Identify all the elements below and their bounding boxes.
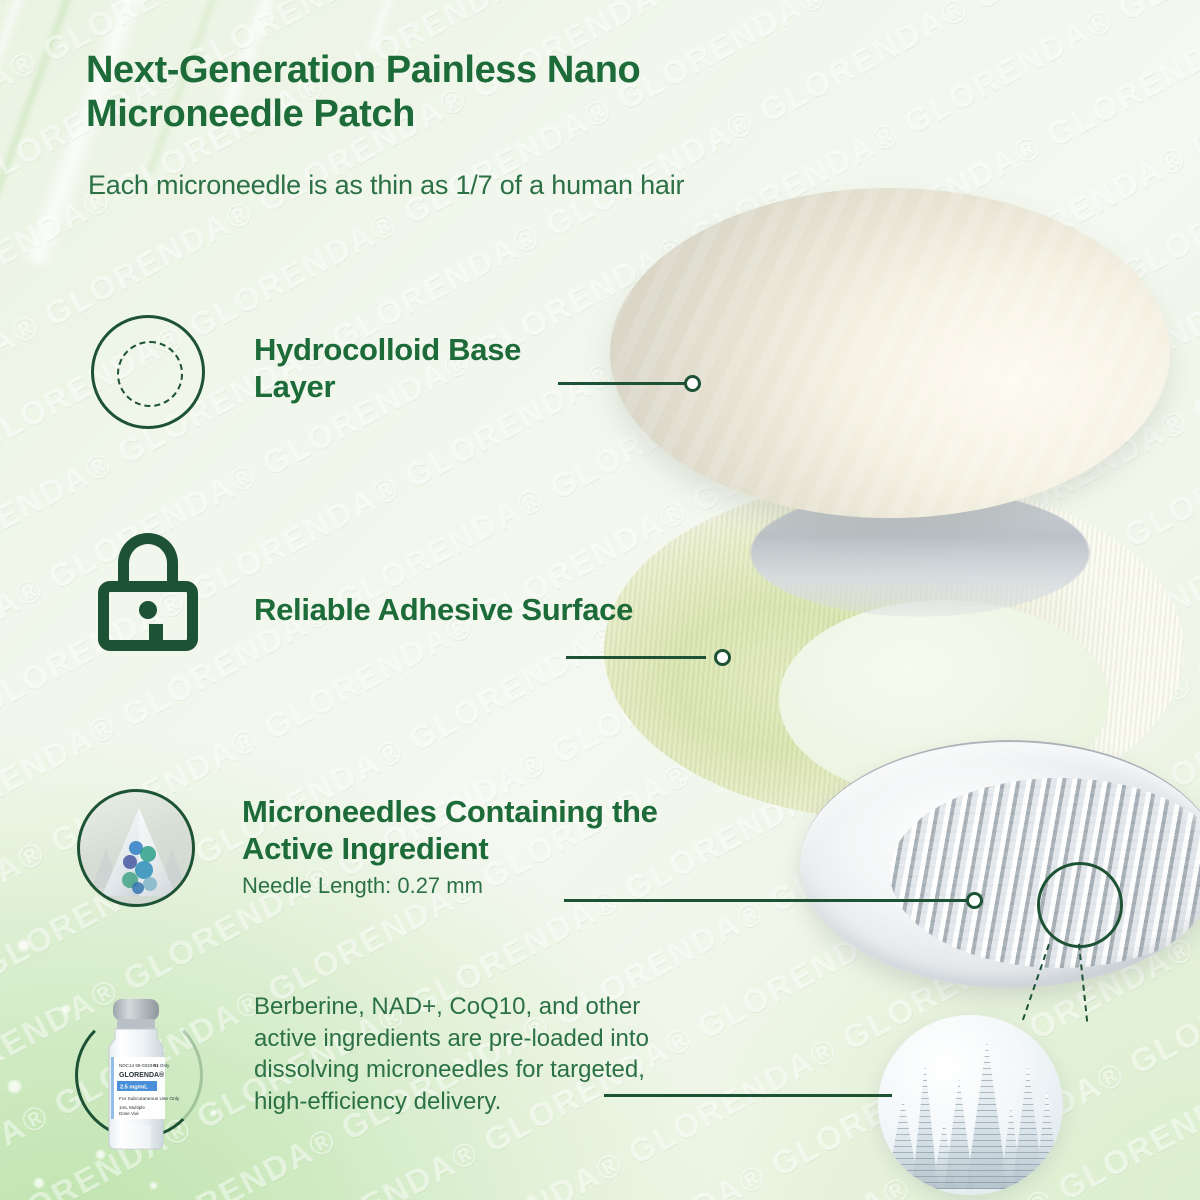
svg-text:Rx Only: Rx Only	[153, 1063, 170, 1068]
svg-text:2.5 mg/mL: 2.5 mg/mL	[120, 1085, 148, 1091]
connector-dot-adhesive	[714, 649, 731, 666]
padlock-icon	[86, 530, 210, 654]
page-subtitle: Each microneedle is as thin as 1/7 of a …	[88, 170, 868, 201]
connector-dot-microneedles	[966, 892, 983, 909]
svg-text:For Subcutaneous Use Only: For Subcutaneous Use Only	[119, 1096, 180, 1102]
magnified-microneedle-view	[878, 1015, 1063, 1195]
feature-title-adhesive: Reliable Adhesive Surface	[254, 592, 654, 629]
vial-graphic: NDC14 68-0333-01 Rx Only GLORENDA® 2.5 m…	[79, 995, 219, 1155]
connector-line-microneedles	[564, 899, 974, 902]
svg-text:1mL Multiple: 1mL Multiple	[119, 1105, 145, 1110]
dashed-circle-icon	[86, 310, 210, 434]
connector-line-hydrocolloid	[558, 382, 698, 385]
hydrocolloid-sheen	[610, 188, 1170, 518]
connector-line-adhesive	[566, 656, 706, 659]
needle-length-label: Needle Length: 0.27 mm	[242, 873, 742, 899]
ingredients-description: Berberine, NAD+, CoQ10, and other active…	[254, 991, 654, 1118]
infographic-page: GLORENDA® GLORENDA® GLORENDA® GLORENDA® …	[0, 0, 1200, 1200]
connector-dot-hydrocolloid	[684, 375, 701, 392]
drug-vial-icon: NDC14 68-0333-01 Rx Only GLORENDA® 2.5 m…	[74, 985, 224, 1155]
needle-zoom-highlight-ring	[1037, 862, 1123, 948]
patch-hydrocolloid-layer	[610, 188, 1170, 518]
pyramid-graphic	[80, 792, 195, 907]
svg-text:Dose Vial: Dose Vial	[119, 1111, 139, 1116]
patch-microneedle-layer	[800, 740, 1200, 988]
feature-title-microneedles: Microneedles Containing the Active Ingre…	[242, 794, 742, 867]
connector-line-ingredients	[604, 1094, 892, 1097]
microneedle-pyramid-icon	[74, 786, 198, 910]
feature-title-hydrocolloid: Hydrocolloid Base Layer	[254, 332, 584, 405]
page-title: Next-Generation Painless Nano Microneedl…	[86, 48, 826, 137]
svg-text:GLORENDA®: GLORENDA®	[119, 1071, 165, 1079]
microneedle-layer-rim	[800, 740, 1200, 988]
